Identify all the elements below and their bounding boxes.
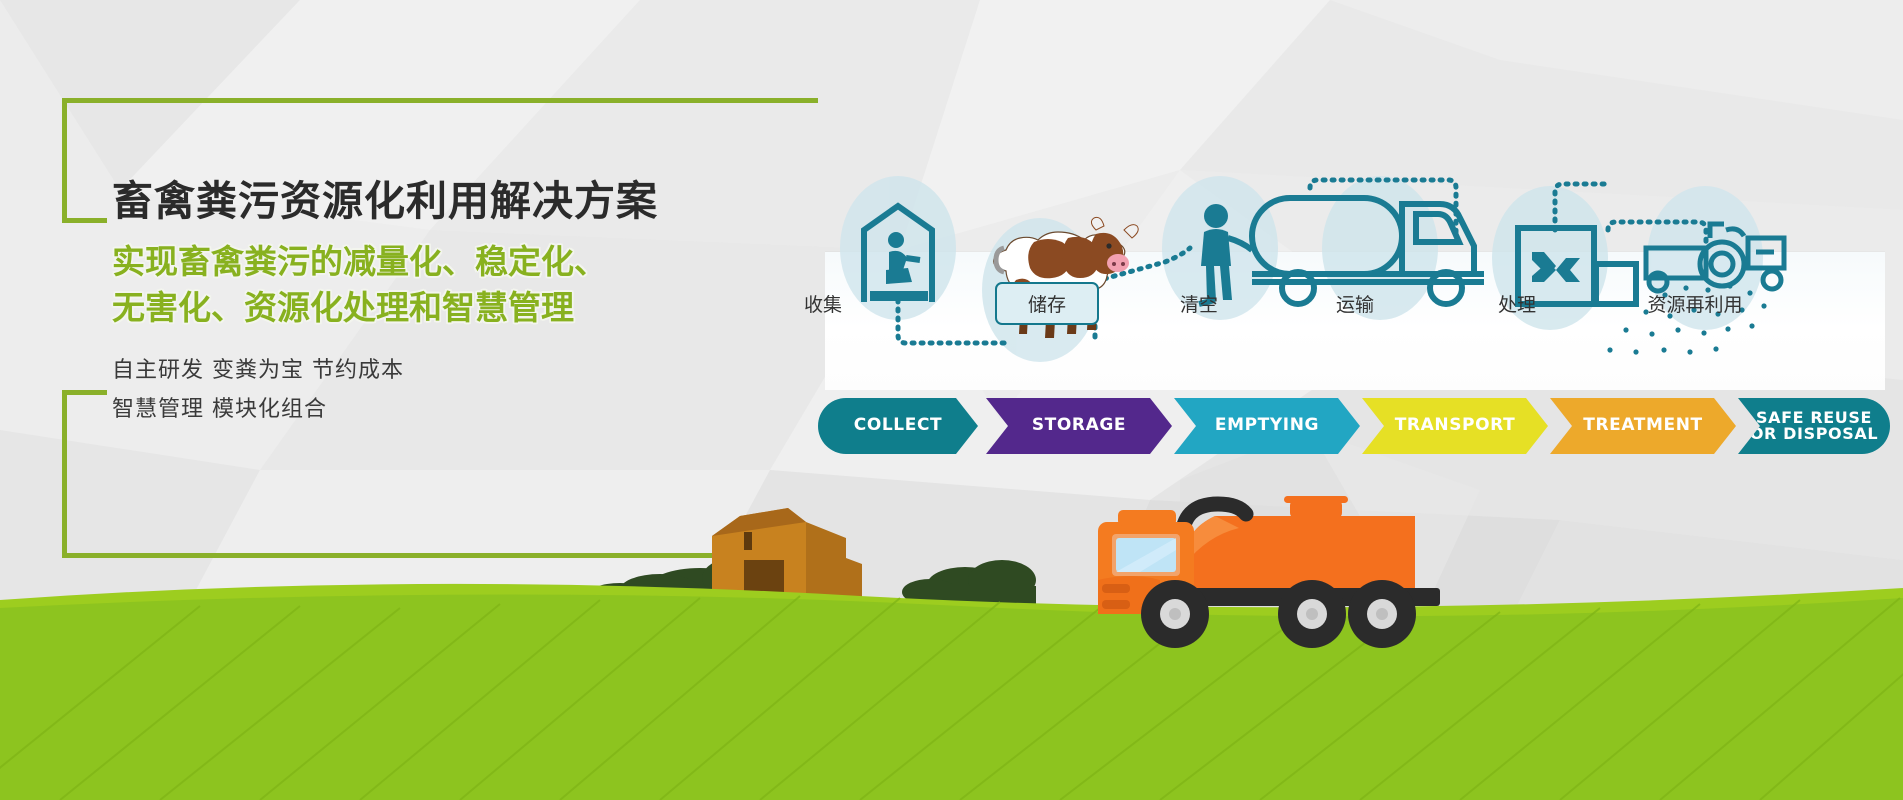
feature-line-2: 智慧管理 模块化组合 xyxy=(112,391,404,430)
flow-icon-layer xyxy=(820,130,1903,400)
page-title: 畜禽粪污资源化利用解决方案 xyxy=(112,178,812,225)
flow-label-transport[interactable]: 运输 xyxy=(1285,290,1425,317)
flow-label-treatment[interactable]: 处理 xyxy=(1447,290,1587,317)
feature-line-1: 自主研发 变粪为宝 节约成本 xyxy=(112,352,404,391)
flow-label-reuse[interactable]: 资源再利用 xyxy=(1595,290,1795,317)
scenery-illustration xyxy=(0,430,1903,800)
flow-cn-labels: 收集 储存 清空 运输 处理 资源再利用 xyxy=(825,290,1885,350)
flow-label-storage[interactable]: 储存 xyxy=(995,282,1099,325)
barn-illustration xyxy=(712,508,862,602)
flow-label-collect[interactable]: 收集 xyxy=(753,290,893,317)
field-front xyxy=(0,594,1903,800)
subtitle-line-1: 实现畜禽粪污的减量化、稳定化、 xyxy=(112,239,812,285)
banner-root: 畜禽粪污资源化利用解决方案 实现畜禽粪污的减量化、稳定化、 无害化、资源化处理和… xyxy=(0,0,1903,800)
feature-list: 自主研发 变粪为宝 节约成本 智慧管理 模块化组合 xyxy=(112,352,404,429)
subtitle-line-2: 无害化、资源化处理和智慧管理 xyxy=(112,285,812,331)
flow-label-emptying[interactable]: 清空 xyxy=(1129,290,1269,317)
headline-block: 畜禽粪污资源化利用解决方案 实现畜禽粪污的减量化、稳定化、 无害化、资源化处理和… xyxy=(112,178,812,330)
